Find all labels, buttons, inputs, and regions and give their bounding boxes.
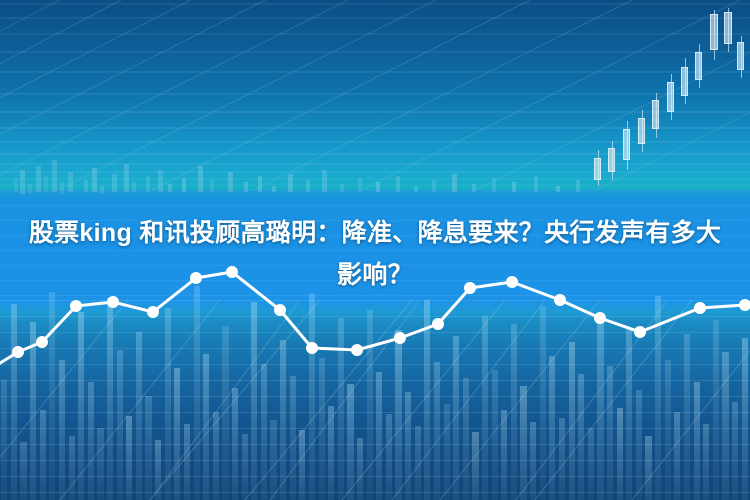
- bar-chart-bar: [636, 390, 642, 500]
- mini-candlestick: [306, 180, 310, 192]
- bar-chart-bar: [453, 336, 459, 500]
- mini-candlestick: [68, 172, 73, 192]
- bar-chart-bar: [540, 306, 546, 500]
- bar-chart-bar: [703, 424, 709, 500]
- bar-chart-bar: [174, 368, 180, 500]
- floor-grid-lines: [0, 300, 750, 500]
- mini-candlestick: [288, 174, 293, 192]
- bar-chart-bar: [626, 328, 632, 500]
- mini-candlestick: [452, 174, 457, 192]
- candlestick-wick: [627, 121, 628, 170]
- headline-line-2: 影响？: [6, 254, 744, 296]
- candlestick-body: [737, 42, 744, 70]
- bar-chart-bar: [69, 436, 75, 500]
- bar-chart-bar: [588, 428, 594, 500]
- candlestick-body: [710, 14, 718, 50]
- mini-candlestick: [576, 180, 580, 192]
- mini-candlestick: [36, 166, 41, 192]
- candlestick-body: [594, 158, 601, 180]
- candlestick-body: [608, 148, 615, 172]
- bar-chart-bar: [674, 412, 680, 500]
- bar-chart-bar: [40, 410, 46, 500]
- mini-candlestick: [432, 180, 436, 192]
- bar-chart-bar: [338, 318, 344, 500]
- headline-text: 股票king 和讯投顾高璐明：降准、降息要来？央行发声有多大 影响？: [0, 212, 750, 296]
- mini-candlestick: [534, 176, 538, 192]
- mini-candlestick: [44, 176, 48, 192]
- bar-chart-bar: [203, 354, 209, 500]
- mini-candlestick: [198, 166, 203, 192]
- candlestick-body: [681, 67, 688, 96]
- bar-chart-bar: [617, 408, 623, 500]
- mini-candlestick: [492, 178, 496, 192]
- bar-chart-bar: [578, 374, 584, 500]
- bar-chart-bar: [520, 386, 526, 500]
- headline-line-1: 股票king 和讯投顾高璐明：降准、降息要来？央行发声有多大: [6, 212, 744, 254]
- bar-chart-bar: [415, 426, 421, 500]
- mini-candlestick: [100, 186, 104, 194]
- mini-candlestick: [556, 186, 560, 192]
- line-chart-data-point: [351, 344, 363, 356]
- bar-chart-bar: [213, 412, 219, 500]
- bar-chart-bar: [280, 340, 286, 500]
- mini-candlestick: [182, 178, 186, 192]
- bar-chart-bar: [463, 378, 469, 500]
- mini-candlestick: [112, 174, 117, 192]
- candlestick-wick: [671, 74, 672, 120]
- line-chart-data-point: [107, 296, 119, 308]
- mini-candlestick: [272, 186, 276, 192]
- mini-candlestick: [168, 184, 172, 192]
- bar-chart-bar: [328, 406, 334, 500]
- candlestick-body: [724, 12, 732, 44]
- bar-chart-bar: [126, 416, 132, 500]
- line-chart-data-point: [432, 318, 444, 330]
- bar-chart-bar: [424, 300, 430, 500]
- bar-chart-bar: [482, 316, 488, 500]
- mini-candlestick: [512, 182, 516, 192]
- bar-chart-bar: [501, 410, 507, 500]
- bar-chart-bar: [270, 420, 276, 500]
- bar-chart-bar: [444, 404, 450, 500]
- mini-candlestick: [132, 182, 136, 192]
- bar-chart-bar: [1, 380, 7, 500]
- bar-chart-bar: [97, 428, 103, 500]
- bar-chart-bar: [742, 338, 748, 500]
- candlestick-wick: [741, 36, 742, 78]
- mini-candlestick: [472, 184, 476, 192]
- bar-chart-bar: [722, 352, 728, 500]
- mini-candlestick: [52, 160, 57, 192]
- mini-candlestick: [396, 176, 400, 192]
- bar-chart-bar: [386, 414, 392, 500]
- mini-candlestick: [158, 170, 163, 192]
- bar-chart-bar: [136, 332, 142, 500]
- bar-chart-bar: [684, 334, 690, 500]
- bar-chart-bar: [30, 322, 36, 500]
- bar-chart-bar: [145, 396, 151, 500]
- line-chart-data-point: [70, 300, 82, 312]
- candlestick-wick: [642, 110, 643, 152]
- bar-chart-bar: [242, 434, 248, 500]
- bar-chart-bar: [395, 330, 401, 500]
- candlestick-body: [638, 118, 645, 144]
- candlestick-body: [695, 52, 702, 80]
- bar-chart-bar: [11, 304, 17, 500]
- mini-candlestick: [376, 182, 380, 192]
- line-chart-data-point: [147, 306, 159, 318]
- line-chart-data-point: [306, 342, 318, 354]
- mini-candlestick: [14, 178, 18, 192]
- stock-market-banner: 股票king 和讯投顾高璐明：降准、降息要来？央行发声有多大 影响？: [0, 0, 750, 500]
- bar-chart-bar: [261, 364, 267, 500]
- mini-candlestick: [258, 176, 262, 192]
- bar-chart-bar: [357, 438, 363, 500]
- line-chart-data-point: [694, 302, 706, 314]
- mini-candlestick: [84, 180, 88, 192]
- line-chart-data-point: [634, 326, 646, 338]
- bar-chart-bar: [732, 402, 738, 500]
- candlestick-wick: [714, 10, 715, 60]
- bar-chart-bar: [665, 360, 671, 500]
- bar-chart-bar: [155, 440, 161, 500]
- candlestick-wick: [685, 58, 686, 104]
- bar-chart-bar: [309, 294, 315, 500]
- mini-candlestick: [358, 178, 362, 192]
- bar-chart-bar: [405, 392, 411, 500]
- bar-chart-bar: [20, 442, 26, 500]
- line-chart-data-point: [594, 312, 606, 324]
- line-chart-data-point: [36, 336, 48, 348]
- candlestick-wick: [656, 93, 657, 138]
- mini-candlestick: [124, 164, 129, 192]
- bar-chart-bar: [49, 292, 55, 500]
- bar-chart-bar: [549, 356, 555, 500]
- bar-chart-bar: [511, 324, 517, 500]
- bar-chart-bar: [645, 436, 651, 500]
- mini-candlestick: [20, 170, 25, 194]
- line-chart-data-point: [12, 346, 24, 358]
- candlestick-body: [623, 129, 630, 160]
- bar-chart-bar: [290, 376, 296, 500]
- mini-candlestick: [28, 184, 32, 194]
- bar-chart-bar: [194, 286, 200, 500]
- candlestick-body: [652, 100, 659, 129]
- candlestick-wick: [699, 44, 700, 88]
- mini-candlestick: [60, 182, 64, 194]
- candlestick-wick: [612, 141, 613, 180]
- bar-chart-bar: [569, 342, 575, 500]
- bar-chart-bar: [472, 432, 478, 500]
- bar-chart-bar: [107, 298, 113, 500]
- bar-chart-bar: [655, 296, 661, 500]
- candlestick-wick: [598, 150, 599, 186]
- mini-candlestick: [244, 182, 248, 192]
- bar-chart-bar: [59, 360, 65, 500]
- mini-candlestick: [228, 172, 233, 192]
- bar-chart-bar: [251, 302, 257, 500]
- mini-candlestick: [210, 180, 214, 192]
- bar-chart-bar: [347, 384, 353, 500]
- bar-chart-bar: [184, 424, 190, 500]
- candlestick-wick: [728, 8, 729, 52]
- line-chart-data-point: [394, 332, 406, 344]
- mini-candlestick: [92, 168, 97, 192]
- bar-chart-bar: [434, 362, 440, 500]
- line-chart-data-point: [274, 304, 286, 316]
- bar-chart-bar: [117, 350, 123, 500]
- bar-chart-bar: [319, 358, 325, 500]
- bar-chart-bar: [232, 388, 238, 500]
- bar-chart-bar: [78, 312, 84, 500]
- mini-candlestick: [340, 184, 344, 192]
- bar-chart-bar: [376, 372, 382, 500]
- bar-chart-bar: [559, 418, 565, 500]
- bar-chart-bar: [713, 320, 719, 500]
- bar-chart-bar: [299, 430, 305, 500]
- bar-chart-bar: [607, 366, 613, 500]
- mini-candlestick: [146, 176, 150, 192]
- bar-chart-bar: [165, 308, 171, 500]
- bar-chart-bar: [88, 382, 94, 500]
- mini-candlestick: [322, 170, 327, 192]
- bar-chart-bar: [222, 326, 228, 500]
- mini-candlestick: [414, 186, 418, 192]
- bar-chart-bar: [694, 382, 700, 500]
- bar-chart-bar: [367, 310, 373, 500]
- bar-chart-bar: [492, 370, 498, 500]
- bar-chart-bar: [597, 314, 603, 500]
- candlestick-body: [667, 82, 674, 112]
- line-chart-data-point: [739, 299, 750, 311]
- bar-chart-bar: [530, 422, 536, 500]
